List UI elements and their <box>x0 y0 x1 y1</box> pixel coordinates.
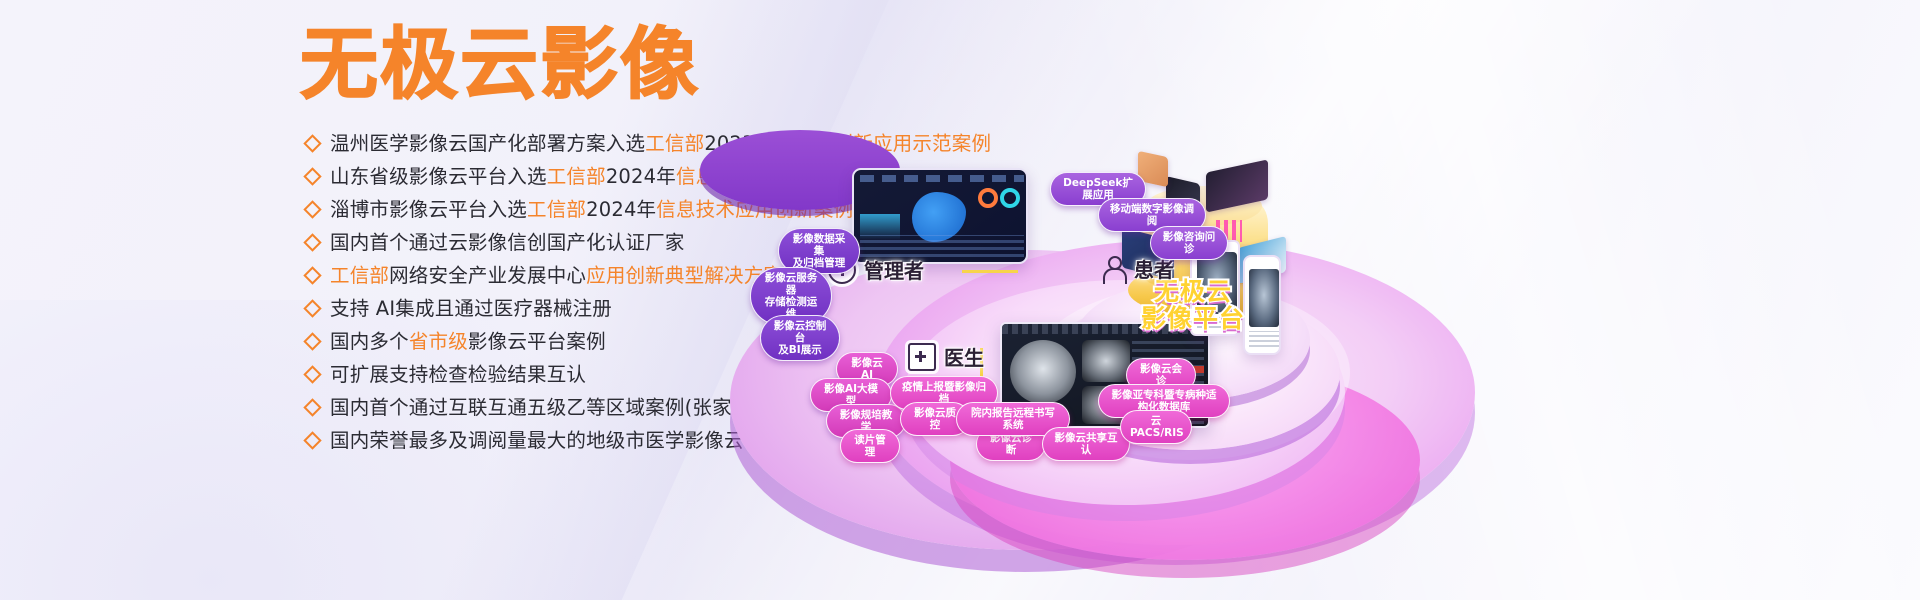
diamond-bullet-icon <box>303 398 321 416</box>
diamond-bullet-icon <box>303 365 321 383</box>
diamond-bullet-icon <box>303 167 321 185</box>
bullet-text-segment: 工信部 <box>645 132 704 155</box>
bullet-text-segment: 省市级 <box>409 330 468 353</box>
role-doctor-label: 医生 <box>944 342 984 371</box>
diagram-pill-film[interactable]: 读片管理 <box>840 429 900 463</box>
dashboard-donut-2 <box>978 188 998 208</box>
bullet-text-segment: 2024年 <box>586 198 656 221</box>
diamond-bullet-icon <box>303 431 321 449</box>
dashboard-donut-1 <box>1000 188 1020 208</box>
bullet-text: 国内首个通过云影像信创国产化认证厂家 <box>330 229 685 256</box>
pacs-ct-image-2 <box>1082 340 1130 382</box>
diamond-bullet-icon <box>303 233 321 251</box>
bullet-text-segment: 工信部 <box>527 198 586 221</box>
bullet-text-segment: 影像云平台案例 <box>468 330 606 353</box>
bullet-text: 可扩展支持检查检验结果互认 <box>330 361 586 388</box>
phone-report-lines <box>1249 331 1279 347</box>
diamond-bullet-icon <box>303 266 321 284</box>
dashboard-screenshot <box>852 168 1028 264</box>
bullet-text: 国内多个省市级影像云平台案例 <box>330 328 606 355</box>
bullet-text-segment: 山东省级影像云平台入选 <box>330 165 547 188</box>
bullet-text-segment: 淄博市影像云平台入选 <box>330 198 527 221</box>
bullet-text-segment: 温州医学影像云国产化部署方案入选 <box>330 132 645 155</box>
diagram-pill-share[interactable]: 影像云共享互认 <box>1042 427 1130 461</box>
bullet-text-segment: 国内首个通过云影像信创国产化认证厂家 <box>330 231 685 254</box>
dashboard-header-bars <box>860 175 1024 182</box>
banner-stage: 无极云影像 温州医学影像云国产化部署方案入选工信部2023年度应用创新应用示范案… <box>0 0 1920 600</box>
bullet-text: 支持 AI集成且通过医疗器械注册 <box>330 295 612 322</box>
platform-diagram: 无极云 影像平台 管理者 医生 患者 DeepSeek扩展应用移动端数字影像调阅… <box>700 130 1920 600</box>
bullet-text-segment: 国内首个通过互联互通五级乙等区域案例(张家港) <box>330 396 759 419</box>
pacs-ct-image-main <box>1010 340 1076 404</box>
diamond-bullet-icon <box>303 134 321 152</box>
diagram-pill-consult[interactable]: 影像咨询问诊 <box>1150 226 1228 260</box>
hospital-icon <box>908 343 936 371</box>
center-platform-label: 无极云 影像平台 <box>1098 278 1288 332</box>
diamond-bullet-icon <box>303 332 321 350</box>
diamond-bullet-icon <box>303 299 321 317</box>
person-icon <box>1100 255 1126 283</box>
bullet-text-segment: 工信部 <box>330 264 389 287</box>
bullet-text-segment: 工信部 <box>547 165 606 188</box>
bullet-text-segment: 2024年 <box>606 165 676 188</box>
role-admin-label: 管理者 <box>864 255 924 284</box>
diamond-bullet-icon <box>303 200 321 218</box>
connector-line-admin <box>962 270 1018 273</box>
page-title: 无极云影像 <box>300 26 700 104</box>
bullet-text: 国内首个通过互联互通五级乙等区域案例(张家港) <box>330 394 759 421</box>
bullet-text-segment: 国内多个 <box>330 330 409 353</box>
dashboard-table <box>860 235 1024 257</box>
role-doctor[interactable]: 医生 <box>908 342 984 371</box>
center-label-line-2: 影像平台 <box>1141 304 1245 333</box>
diagram-pill-pacs[interactable]: 云PACS/RIS <box>1120 410 1192 444</box>
bullet-text-segment: 网络安全产业发展中心 <box>389 264 586 287</box>
bullet-text-segment: 支持 AI集成且通过医疗器械注册 <box>330 297 612 320</box>
bullet-text-segment: 可扩展支持检查检验结果互认 <box>330 363 586 386</box>
diagram-pill-console[interactable]: 影像云控制台 及BI展示 <box>760 315 840 361</box>
